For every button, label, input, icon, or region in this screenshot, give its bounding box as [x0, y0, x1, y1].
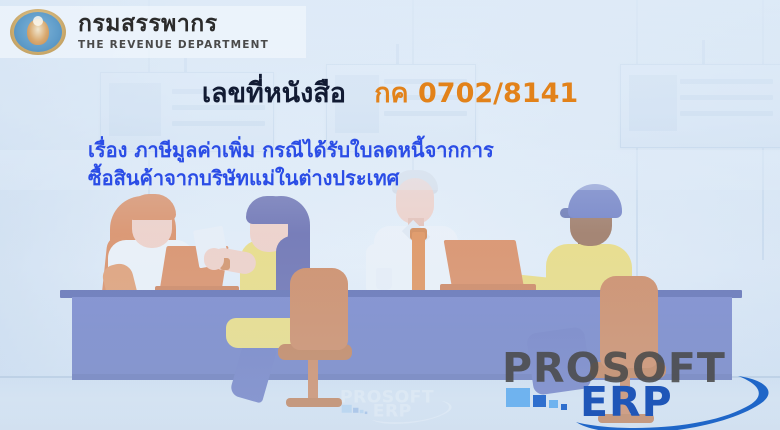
- revenue-department-emblem-icon: [8, 7, 68, 57]
- subject-line-2: ซื้อสินค้าจากบริษัทแม่ในต่างประเทศ: [88, 164, 688, 192]
- logo-square: [506, 388, 530, 407]
- logo-square: [360, 410, 364, 413]
- chair-base: [286, 398, 342, 407]
- watermark-row: ERP: [340, 402, 434, 420]
- logo-square: [533, 395, 546, 407]
- document-number-value: กค 0702/8141: [374, 78, 578, 109]
- org-name-english: THE REVENUE DEPARTMENT: [78, 40, 269, 51]
- paper-cup: [376, 268, 392, 290]
- logo-word-erp: ERP: [580, 382, 673, 423]
- document-number-label: เลขที่หนังสือ: [202, 78, 346, 109]
- office-chair: [290, 268, 348, 350]
- logo-square: [365, 412, 368, 415]
- org-name-thai: กรมสรรพากร: [78, 13, 269, 36]
- logo-square: [342, 405, 352, 413]
- logo-square: [353, 408, 358, 413]
- necktie: [412, 232, 425, 294]
- logo-square: [549, 400, 558, 408]
- person-hand: [204, 248, 224, 270]
- slide-canvas: กรมสรรพากร THE REVENUE DEPARTMENT เลขที่…: [0, 0, 780, 430]
- watermark-word-erp: ERP: [373, 402, 412, 419]
- person-hair: [246, 196, 294, 224]
- prosoft-erp-logo: PROSOFT ERP: [502, 348, 726, 426]
- logo-square: [561, 404, 567, 410]
- revenue-department-header: กรมสรรพากร THE REVENUE DEPARTMENT: [0, 6, 306, 58]
- chair-stem: [308, 358, 318, 402]
- document-subject: เรื่อง ภาษีมูลค่าเพิ่ม กรณีได้รับใบลดหนี…: [88, 136, 688, 193]
- emblem-highlight: [33, 16, 43, 26]
- prosoft-erp-watermark: PROSOFT ERP: [340, 388, 434, 421]
- logo-row-erp: ERP: [502, 382, 726, 426]
- subject-line-1: เรื่อง ภาษีมูลค่าเพิ่ม กรณีได้รับใบลดหนี…: [88, 138, 494, 162]
- document-number-heading: เลขที่หนังสือ กค 0702/8141: [0, 78, 780, 110]
- revenue-department-wordmark: กรมสรรพากร THE REVENUE DEPARTMENT: [78, 13, 269, 51]
- laptop-icon: [444, 240, 525, 290]
